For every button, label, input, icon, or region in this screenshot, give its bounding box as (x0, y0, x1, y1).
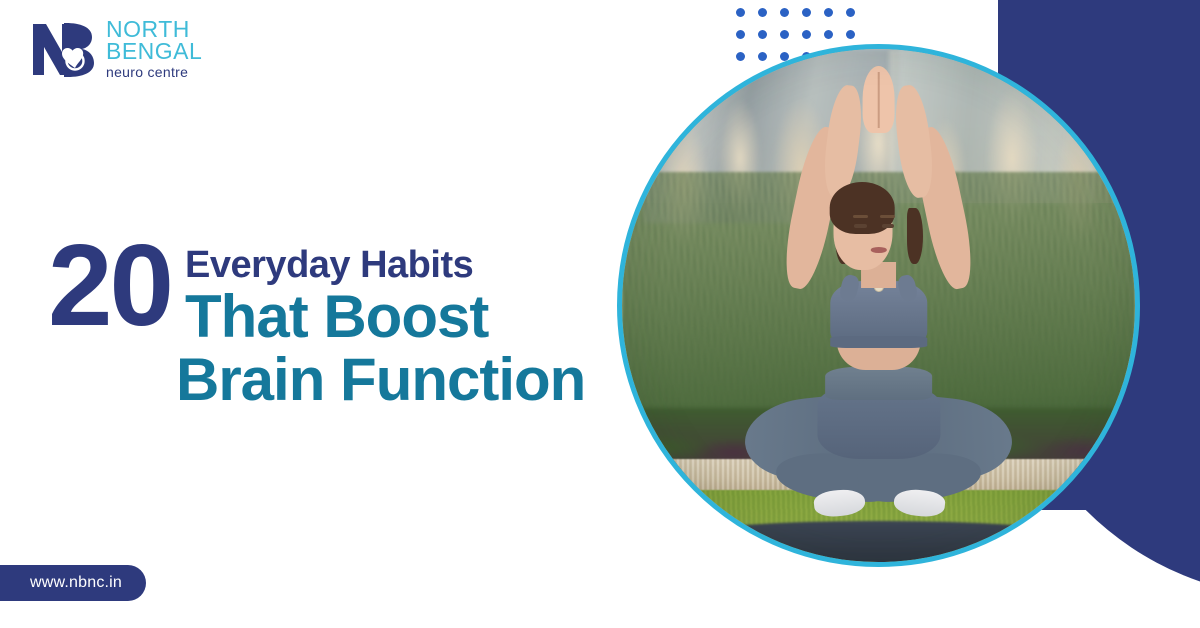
figure-lips (870, 247, 886, 253)
figure-brow-left (853, 215, 868, 218)
figure-hair-right (907, 208, 922, 264)
dot (846, 8, 855, 17)
nb-monogram-heart-icon (30, 19, 96, 79)
dot (758, 30, 767, 39)
dot (802, 30, 811, 39)
headline-number: 20 (48, 232, 171, 339)
figure-bra-band (830, 336, 927, 347)
brand-wordmark: NORTH BENGAL neuro centre (106, 18, 202, 79)
dot (780, 30, 789, 39)
figure-brow-right (880, 215, 895, 218)
website-url-pill[interactable]: www.nbnc.in (0, 565, 146, 601)
headline-main-line-1: That Boost (185, 286, 488, 347)
dot (824, 8, 833, 17)
headline-top-row: 20 Everyday Habits That Boost (48, 232, 608, 347)
brand-logo[interactable]: NORTH BENGAL neuro centre (30, 18, 202, 79)
website-url-text: www.nbnc.in (30, 574, 122, 592)
figure-hand-crease (877, 72, 880, 128)
headline-eyebrow: Everyday Habits (185, 246, 488, 284)
brand-tagline: neuro centre (106, 65, 202, 79)
dot (736, 8, 745, 17)
yoga-photo (622, 49, 1135, 562)
figure-forearm-right (891, 83, 936, 199)
dot (802, 8, 811, 17)
dot (758, 8, 767, 17)
promo-banner: NORTH BENGAL neuro centre 20 Everyday Ha… (0, 0, 1200, 628)
dot (846, 30, 855, 39)
yoga-photo-circle (617, 44, 1140, 567)
dot (824, 30, 833, 39)
figure-legging-waistband (825, 367, 933, 400)
dot (780, 8, 789, 17)
figure-eye-right-closed (882, 224, 894, 227)
headline-right-col: Everyday Habits That Boost (185, 232, 488, 347)
dot (736, 30, 745, 39)
headline-block: 20 Everyday Habits That Boost Brain Func… (48, 232, 608, 410)
headline-main-line-2: Brain Function (176, 349, 608, 410)
brand-line-2: BENGAL (106, 40, 202, 63)
figure-eye-left-closed (854, 224, 866, 227)
photo-woman-figure (622, 49, 1135, 562)
